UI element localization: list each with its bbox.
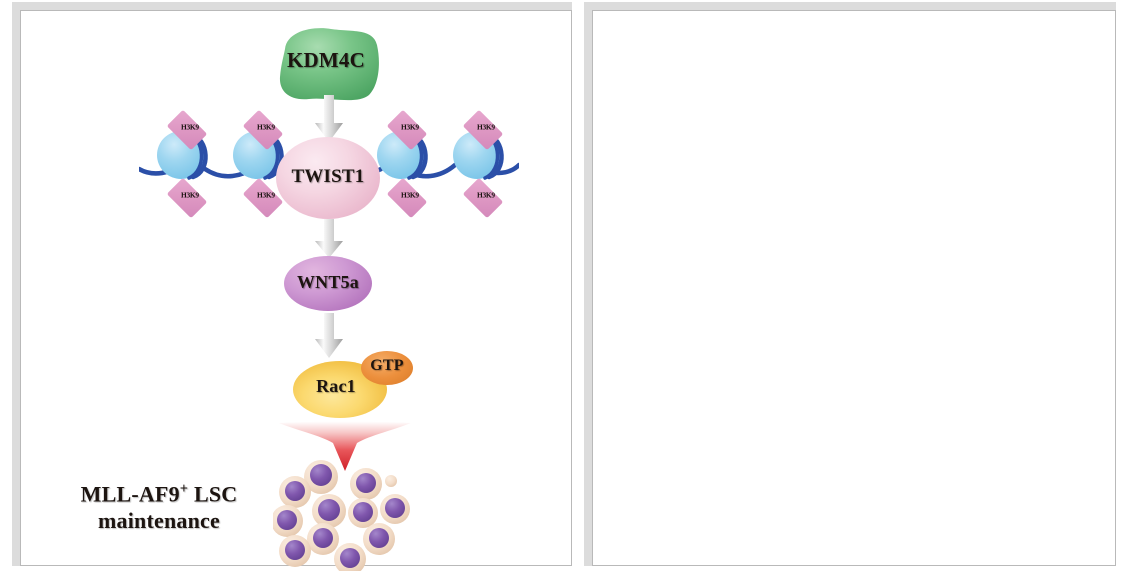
lsc-line1-text: MLL-AF9: [81, 481, 180, 506]
cell: [350, 468, 382, 500]
h3k9-label: H3K9: [461, 191, 510, 199]
cell: [380, 494, 410, 524]
kdm4c-label: KDM4C: [269, 49, 383, 73]
h3k9-label: H3K9: [165, 123, 214, 131]
lsc-superscript: +: [180, 481, 188, 497]
cell: [363, 523, 395, 555]
lsc-cell-cluster: [273, 459, 413, 571]
rac1-label: Rac1: [289, 376, 383, 396]
figure-canvas: H3K9 H3K9 H3K9 H3K9 H3K9 H3K9 H3K9 H3K9: [0, 0, 1129, 578]
gtp-label: GTP: [361, 357, 413, 375]
cell: [348, 498, 378, 528]
cell: [385, 475, 397, 487]
cell: [312, 494, 346, 528]
h3k9-label: H3K9: [165, 191, 214, 199]
arrow-twist1-to-wnt5a: [314, 219, 344, 259]
lsc-line1b-text: LSC: [188, 481, 237, 506]
panel-right: TWIST1/HOXA9 Overexpression TWIST1 HOXA9…: [592, 10, 1116, 566]
cell: [334, 543, 366, 571]
twist1-label: TWIST1: [270, 166, 386, 187]
h3k9-label: H3K9: [461, 123, 510, 131]
lsc-line2-text: maintenance: [98, 508, 220, 533]
h3k9-label: H3K9: [385, 191, 434, 199]
cell: [273, 505, 303, 537]
cell: [279, 476, 311, 508]
wnt5a-label: WNT5a: [278, 272, 378, 292]
panel-left: H3K9 H3K9 H3K9 H3K9 H3K9 H3K9 H3K9 H3K9: [20, 10, 572, 566]
arrow-wnt5a-to-rac1: [314, 313, 344, 359]
h3k9-label: H3K9: [385, 123, 434, 131]
lsc-outcome-label: MLL-AF9+ LSCmaintenance: [49, 481, 269, 535]
cell: [279, 535, 311, 567]
h3k9-label: H3K9: [241, 123, 290, 131]
cell: [307, 523, 339, 555]
